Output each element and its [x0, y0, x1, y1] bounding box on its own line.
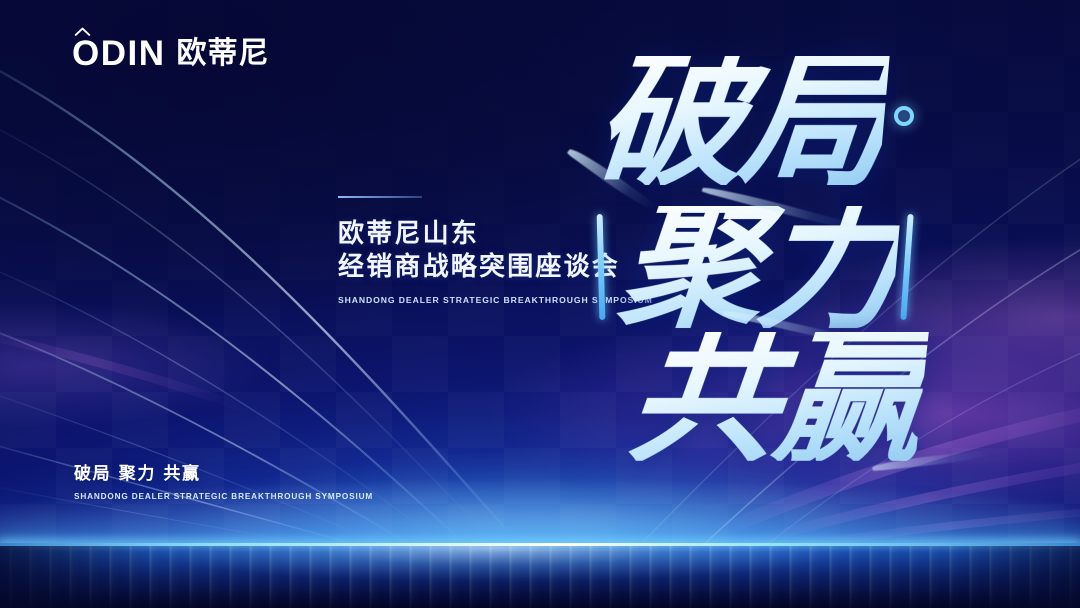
footer-slogan-chinese: 破局 聚力 共赢: [74, 466, 373, 483]
footer-slogan-english: SHANDONG DEALER STRATEGIC BREAKTHROUGH S…: [74, 492, 373, 501]
hero-calligraphy: 破局 聚力 共赢: [572, 56, 992, 466]
footer-slogan-block: 破局 聚力 共赢 SHANDONG DEALER STRATEGIC BREAK…: [74, 466, 373, 501]
circle-mark-icon: [894, 106, 914, 126]
brand-logo[interactable]: ODIN 欧蒂尼: [72, 36, 270, 71]
odin-wordmark: ODIN: [72, 36, 166, 71]
event-title-block: 欧蒂尼山东 经销商战略突围座谈会 SHANDONG DEALER STRATEG…: [338, 196, 608, 305]
event-title-line-2: 经销商战略突围座谈会: [338, 251, 608, 284]
vertical-bar-left-icon: [597, 214, 606, 320]
hero-text-gongying: 共赢: [623, 332, 929, 461]
odin-chinese-name: 欧蒂尼: [177, 39, 270, 69]
hero-row-pojui: 破局: [596, 56, 884, 185]
odin-wordmark-text: ODIN: [72, 34, 166, 73]
poster-canvas: ODIN 欧蒂尼 欧蒂尼山东 经销商战略突围座谈会 SHANDONG DEALE…: [0, 0, 1080, 608]
event-title-english: SHANDONG DEALER STRATEGIC BREAKTHROUGH S…: [338, 295, 608, 305]
circumflex-icon: [74, 27, 91, 36]
hero-row-gongying: 共赢: [630, 332, 922, 461]
vertical-bar-right-icon: [900, 214, 913, 320]
event-title-line-1: 欧蒂尼山东: [338, 218, 608, 251]
title-divider-rule: [338, 196, 422, 198]
hero-text-pojui: 破局: [590, 56, 889, 185]
